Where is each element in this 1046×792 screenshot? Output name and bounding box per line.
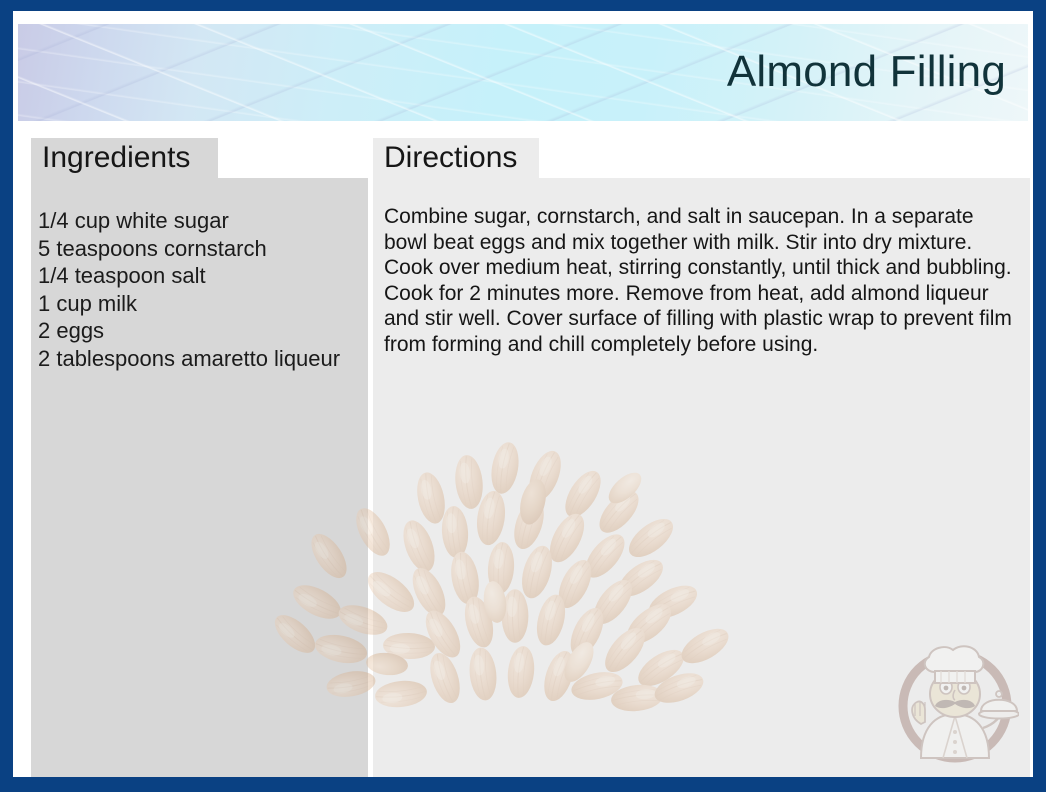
list-item: 2 eggs	[38, 317, 368, 345]
ingredients-list: 1/4 cup white sugar 5 teaspoons cornstar…	[31, 178, 368, 372]
list-item: 5 teaspoons cornstarch	[38, 235, 368, 263]
directions-text: Combine sugar, cornstarch, and salt in s…	[373, 178, 1030, 357]
slide-inner-frame: Almond Filling Ingredients 1/4 cup white…	[13, 11, 1033, 777]
recipe-slide: Almond Filling Ingredients 1/4 cup white…	[0, 0, 1046, 792]
list-item: 1 cup milk	[38, 290, 368, 318]
title-banner: Almond Filling	[18, 24, 1028, 121]
directions-panel: Combine sugar, cornstarch, and salt in s…	[373, 178, 1030, 777]
ingredients-heading-tab: Ingredients	[31, 138, 218, 180]
list-item: 2 tablespoons amaretto liqueur	[38, 345, 368, 373]
list-item: 1/4 teaspoon salt	[38, 262, 368, 290]
page-title: Almond Filling	[727, 47, 1006, 97]
list-item: 1/4 cup white sugar	[38, 207, 368, 235]
directions-heading-tab: Directions	[373, 138, 539, 180]
ingredients-panel: 1/4 cup white sugar 5 teaspoons cornstar…	[31, 178, 368, 777]
